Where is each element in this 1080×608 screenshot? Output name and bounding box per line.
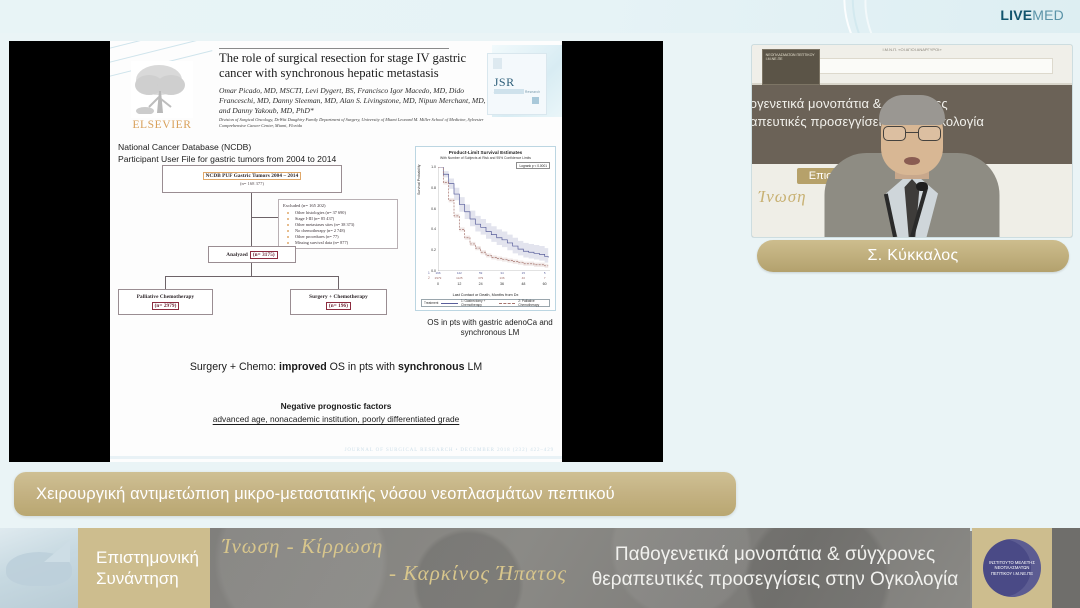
chart-at-risk-value: 196: [435, 271, 440, 275]
speaker-mouth: [904, 157, 920, 165]
slide-bottom-accent: [110, 456, 562, 459]
glasses-lens-right: [918, 126, 941, 141]
footer-event-kind-line2: Συνάντηση: [96, 568, 210, 589]
speaker-glasses-icon: [883, 126, 941, 141]
chart-at-risk-value: 15: [522, 271, 525, 275]
footer-theme: Παθογενετικά μονοπάτια & σύγχρονες θεραπ…: [580, 528, 970, 608]
chart-x-tick: 36: [500, 282, 504, 286]
flow-excluded-box: Excluded (n= 165 202) Other histologies …: [278, 199, 398, 249]
chart-legend: Treatment 1: Gastrectomy + Chemotherapy …: [421, 299, 550, 307]
flow-arm-right-title: Surgery + Chemotherapy: [309, 294, 368, 300]
flow-excluded-list: Other histologies (n= 37 690) Stage I-II…: [283, 210, 394, 247]
chart-at-risk-value: 2979: [435, 276, 442, 280]
chart-x-tick: 0: [437, 282, 439, 286]
speaker-video[interactable]: Ι.Μ.Ν.Π. «ΟΙ ΑΓΙΟΙ ΑΝΑΡΓΥΡΟΙ» Υπό την Αι…: [752, 45, 1072, 237]
database-caption-line1: National Cancer Database (NCDB): [118, 142, 448, 154]
chart-at-risk-value: 379: [478, 276, 483, 280]
chart-at-risk-value: 7: [544, 276, 546, 280]
slide-main-statement: Surgery + Chemo: improved OS in pts with…: [110, 361, 562, 373]
flow-arm-left-n: (n= 2979): [152, 302, 180, 310]
footer-theme-line1: Παθογενετικά μονοπάτια & σύγχρονες: [615, 543, 935, 568]
footer-handwritten-line2: - Καρκίνος Ήπατος: [222, 561, 567, 586]
flow-source-box: NCDB PUF Gastric Tumors 2004 – 2014 (n= …: [162, 165, 342, 193]
article-affiliation: Division of Surgical Oncology, DeWitt Da…: [219, 117, 487, 130]
footer-event-kind: Επιστημονική Συνάντηση: [78, 528, 210, 608]
chart-at-risk-value: 1125: [456, 276, 462, 280]
flow-line-v3: [165, 276, 166, 289]
journal-cover-square: [532, 97, 539, 104]
glasses-lens-left: [883, 126, 906, 141]
journal-cover-title: JSR: [494, 75, 541, 90]
journal-cover-bar: [494, 89, 524, 94]
negative-factors-body: advanced age, nonacademic institution, p…: [110, 414, 562, 424]
livemed-logo-live: LIVE: [1000, 7, 1032, 23]
chart-legend-swatch-group1: [441, 303, 458, 304]
footer-handwritten-line1: Ίνωση - Κίρρωση: [222, 534, 567, 559]
flow-arm-right-n: (n= 196): [326, 302, 351, 310]
journal-citation-footer: JOURNAL OF SURGICAL RESEARCH • DECEMBER …: [345, 448, 554, 453]
slide-share-panel[interactable]: ELSEVIER The role of surgical resection …: [9, 41, 663, 462]
glasses-bridge: [906, 132, 918, 133]
chart-at-risk-value: 136: [499, 276, 504, 280]
footer-right-edge: [1052, 528, 1080, 608]
flow-arm-left-title: Palliative Chemotherapy: [137, 294, 194, 300]
flow-line-v4: [338, 276, 339, 289]
article-title: The role of surgical resection for stage…: [219, 51, 487, 82]
statement-mid: OS in pts with: [327, 361, 398, 373]
database-caption: National Cancer Database (NCDB) Particip…: [118, 142, 448, 165]
speaker-figure: [817, 102, 1007, 237]
chart-legend-swatch-group2: [499, 303, 516, 304]
footer-handwritten-title: Ίνωση - Κίρρωση - Καρκίνος Ήπατος: [222, 534, 567, 604]
chart-x-tick: 24: [479, 282, 483, 286]
chart-at-risk-value: 5: [544, 271, 546, 275]
database-caption-line2: Participant User File for gastric tumors…: [118, 154, 448, 166]
chart-y-tick: 0.4: [431, 227, 436, 231]
page-header: LIVEMED: [0, 0, 1080, 33]
statement-prefix: Surgery + Chemo:: [190, 361, 279, 373]
presentation-slide: ELSEVIER The role of surgical resection …: [110, 41, 562, 462]
chart-at-risk-row-label: 1: [428, 271, 430, 275]
chart-at-risk-value: 40: [522, 276, 525, 280]
chart-at-risk-value: 34: [500, 271, 503, 275]
flow-line-h2: [165, 276, 338, 277]
chart-legend-title: Treatment: [424, 301, 438, 305]
article-authors: Omar Picado, MD, MSCTI, Levi Dygert, BS,…: [219, 86, 494, 116]
footer-institute-logo-circle: ΙΝΣΤΙΤΟΥΤΟ ΜΕΛΕΤΗΣ ΝΕΟΠΛΑΣΜΑΤΩΝ ΠΕΠΤΙΚΟΥ…: [983, 539, 1041, 597]
survival-chart: Product-Limit Survival Estimates With Nu…: [415, 146, 556, 311]
talk-title-banner: Χειρουργική αντιμετώπιση μικρο-μεταστατι…: [14, 472, 736, 516]
speaker-nameplate: Σ. Κύκκαλος: [757, 240, 1069, 272]
chart-at-risk-value: 59: [479, 271, 482, 275]
elsevier-tree-icon: [131, 61, 193, 118]
statement-suffix: LM: [465, 361, 483, 373]
chart-x-axis-label: Last Contact or Death, Months from Dx: [416, 293, 555, 297]
journal-cover-publisher-mark: [493, 58, 502, 69]
statement-bold-synchronous: synchronous: [398, 361, 465, 373]
chart-at-risk-row-label: 2: [428, 276, 430, 280]
elsevier-logo: ELSEVIER: [123, 51, 201, 131]
statement-bold-improved: improved: [279, 361, 327, 373]
flow-line-v2: [251, 263, 252, 276]
flow-arm-right-box: Surgery + Chemotherapy (n= 196): [290, 289, 387, 315]
chart-y-tick: 0.6: [431, 207, 436, 211]
chart-y-tick: 0.2: [431, 248, 436, 252]
banner-institute-logo: ΝΕΟΠΛΑΣΜΑΤΩΝ ΠΕΠΤΙΚΟΥ Ι.Μ.ΝΕ.ΠΕ: [762, 49, 820, 85]
flow-line-v1: [251, 193, 252, 246]
chart-x-tick: 12: [457, 282, 461, 286]
footer-institute-logo: ΙΝΣΤΙΤΟΥΤΟ ΜΕΛΕΤΗΣ ΝΕΟΠΛΑΣΜΑΤΩΝ ΠΕΠΤΙΚΟΥ…: [972, 528, 1052, 608]
flow-analyzed-label: Analyzed: [226, 252, 248, 258]
footer-event-kind-line1: Επιστημονική: [96, 547, 210, 568]
negative-factors-header: Negative prognostic factors: [110, 401, 562, 411]
flow-excluded-header: Excluded (n= 165 202): [283, 203, 394, 208]
flow-analyzed-n: (n= 3175): [250, 251, 278, 259]
conference-footer: Επιστημονική Συνάντηση Ίνωση - Κίρρωση -…: [0, 528, 1080, 608]
footer-anatomy-image: [0, 528, 78, 608]
chart-x-tick: 60: [543, 282, 547, 286]
livemed-logo-med: MED: [1032, 7, 1064, 23]
microphone-head-icon: [916, 182, 928, 191]
chart-legend-label-group1: 1: Gastrectomy + Chemotherapy: [461, 299, 496, 307]
chart-y-tick: 0.8: [431, 186, 436, 190]
article-header: ELSEVIER The role of surgical resection …: [118, 45, 556, 137]
chart-subtitle: With Number of Subjects at Risk and 95% …: [416, 156, 555, 160]
speaker-hair: [879, 95, 945, 125]
chart-y-tick: 1.0: [431, 165, 436, 169]
screen-root: LIVEMED: [0, 0, 1080, 608]
flow-source-title: NCDB PUF Gastric Tumors 2004 – 2014: [203, 172, 302, 180]
flow-arm-left-box: Palliative Chemotherapy (n= 2979): [118, 289, 213, 315]
chart-curves: [438, 167, 550, 271]
chart-legend-label-group2: 2: Palliative Chemotherapy: [518, 299, 547, 307]
chart-title: Product-Limit Survival Estimates: [416, 150, 555, 155]
article-title-rule: [219, 48, 449, 49]
footer-anatomy-fin: [44, 540, 70, 562]
flow-excluded-item: Missing survival data (n= 877): [283, 240, 394, 246]
banner-handwritten-text: Ίνωση: [758, 187, 806, 207]
flow-analyzed-box: Analyzed (n= 3175): [208, 246, 296, 263]
elsevier-wordmark: ELSEVIER: [132, 119, 191, 131]
journal-cover-thumbnail: JSR Journal of Surgical Research: [487, 53, 547, 115]
chart-x-tick: 48: [521, 282, 525, 286]
footer-theme-line2: θεραπευτικές προσεγγίσεις στην Ογκολογία: [592, 568, 959, 593]
livemed-logo[interactable]: LIVEMED: [1000, 8, 1064, 22]
flow-source-n: (n= 168 377): [240, 181, 264, 186]
chart-caption: OS in pts with gastric adenoCa and synch…: [415, 318, 562, 337]
chart-plot-area: 0.00.20.40.60.81.00122436486011961225934…: [438, 167, 550, 271]
flow-line-h1: [251, 217, 278, 218]
chart-at-risk-value: 122: [457, 271, 462, 275]
chart-y-axis-label: Survival Probability: [417, 164, 421, 195]
consort-flow-diagram: NCDB PUF Gastric Tumors 2004 – 2014 (n= …: [118, 165, 410, 370]
